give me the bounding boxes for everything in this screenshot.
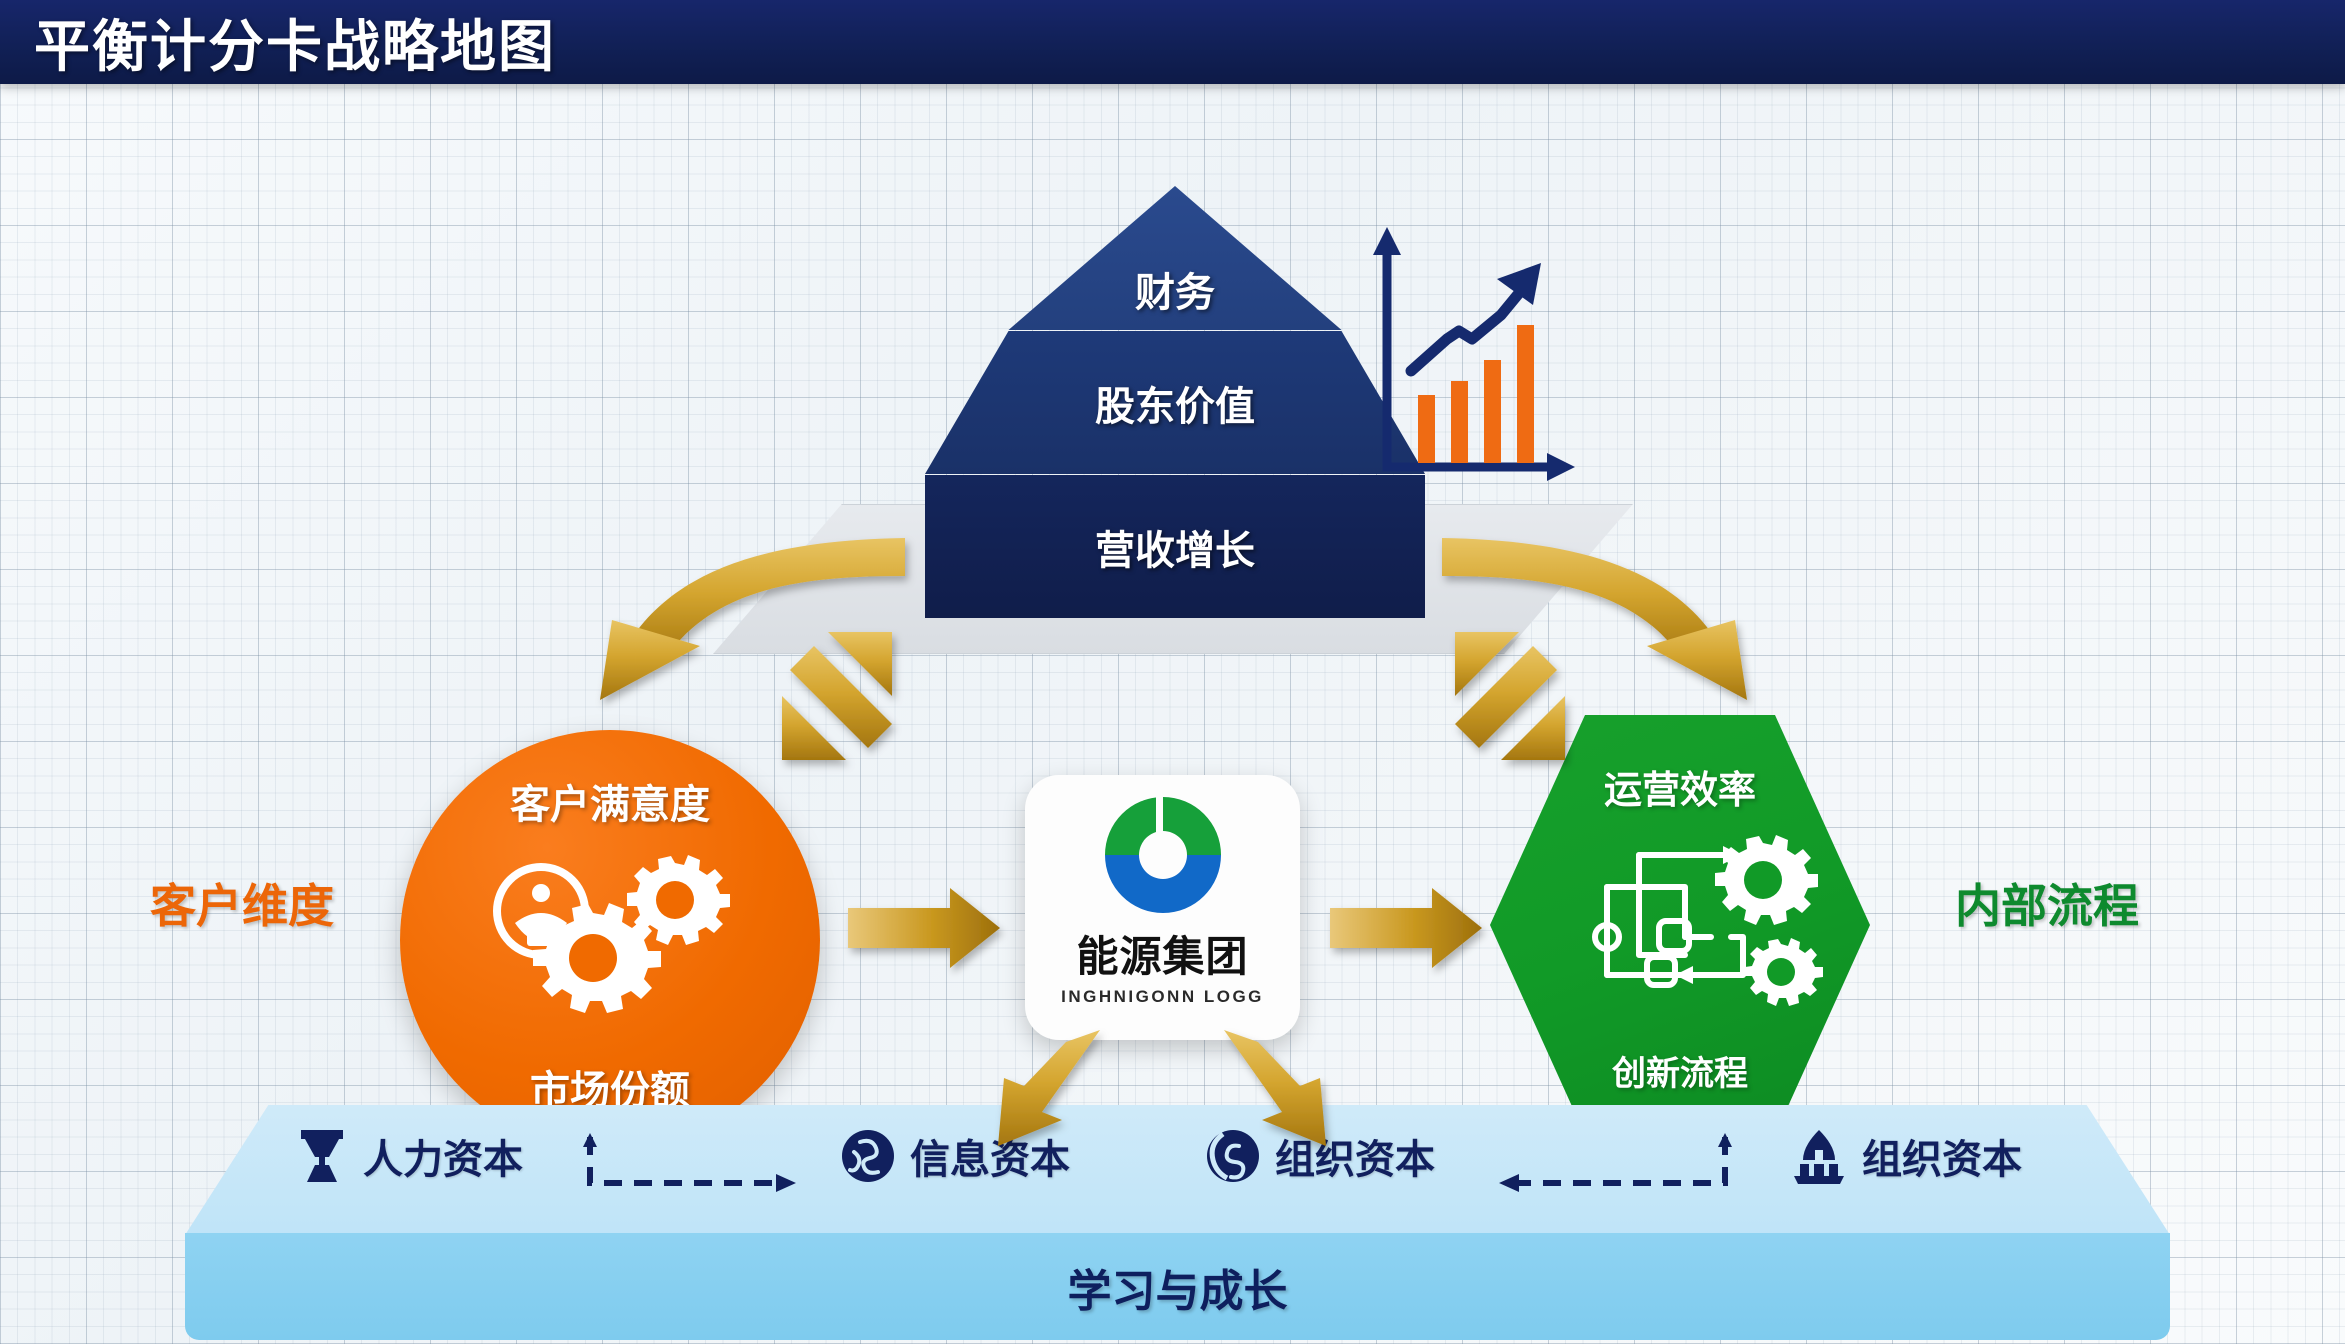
- connector-arrow-org-to-org: [1485, 1131, 1735, 1203]
- gear-small-icon: [1745, 938, 1823, 1006]
- network-globe-icon: [840, 1128, 896, 1184]
- learning-growth-label: 学习与成长: [1068, 1255, 1288, 1319]
- asset-label: 信息资本: [910, 1127, 1070, 1185]
- page-title: 平衡计分卡战略地图: [34, 2, 556, 83]
- pyramid-tier-shareholder-value[interactable]: 股东价值: [925, 331, 1425, 474]
- energy-ring-logo-icon: [1083, 791, 1243, 919]
- company-name: 能源集团: [1076, 923, 1248, 984]
- institution-icon: [1790, 1128, 1848, 1184]
- customer-satisfaction-label: 客户满意度: [510, 772, 710, 830]
- company-logo-card[interactable]: 能源集团 INGHNIGONN LOGG: [1025, 775, 1300, 1040]
- innovation-process-label: 创新流程: [1612, 1046, 1748, 1095]
- slab-body: 学习与成长: [185, 1233, 2170, 1340]
- pyramid-tier-revenue-growth[interactable]: 营收增长: [925, 475, 1425, 618]
- asset-label: 组织资本: [1862, 1127, 2022, 1185]
- title-bar: 平衡计分卡战略地图: [0, 0, 2345, 84]
- asset-information-capital[interactable]: 信息资本: [840, 1127, 1070, 1185]
- process-icon-group: [1535, 814, 1825, 1046]
- gear-large-icon: [1715, 835, 1818, 925]
- connector-arrow-human-to-info: [580, 1131, 820, 1203]
- customer-perspective-label: 客户维度: [150, 870, 334, 936]
- asset-organizational-capital[interactable]: 组织资本: [1205, 1127, 1435, 1185]
- asset-label: 组织资本: [1275, 1127, 1435, 1185]
- asset-human-capital[interactable]: 人力资本: [295, 1127, 523, 1185]
- learning-growth-slab[interactable]: 人力资本 信息资本 组织资本: [185, 1105, 2170, 1340]
- operational-efficiency-label: 运营效率: [1604, 759, 1756, 814]
- company-subtitle: INGHNIGONN LOGG: [1061, 987, 1264, 1007]
- internal-process-perspective-label: 内部流程: [1955, 870, 2139, 936]
- growth-bar-chart-icon: [1355, 205, 1585, 505]
- customer-icon-group: [485, 830, 735, 1058]
- pyramid-tier-finance[interactable]: 财务: [925, 186, 1425, 330]
- financial-pyramid[interactable]: 财务 股东价值 营收增长: [925, 186, 1425, 618]
- customer-perspective-circle[interactable]: 客户满意度 市场份额: [400, 730, 820, 1150]
- arrow-company-to-process: [1330, 888, 1482, 968]
- asset-label: 人力资本: [363, 1127, 523, 1185]
- arrow-customer-to-company: [848, 888, 1000, 968]
- trophy-icon: [295, 1127, 349, 1185]
- asset-organizational-capital-institution[interactable]: 组织资本: [1790, 1127, 2022, 1185]
- internal-process-hexagon[interactable]: 运营效率: [1490, 715, 1870, 1135]
- org-circle-icon: [1205, 1128, 1261, 1184]
